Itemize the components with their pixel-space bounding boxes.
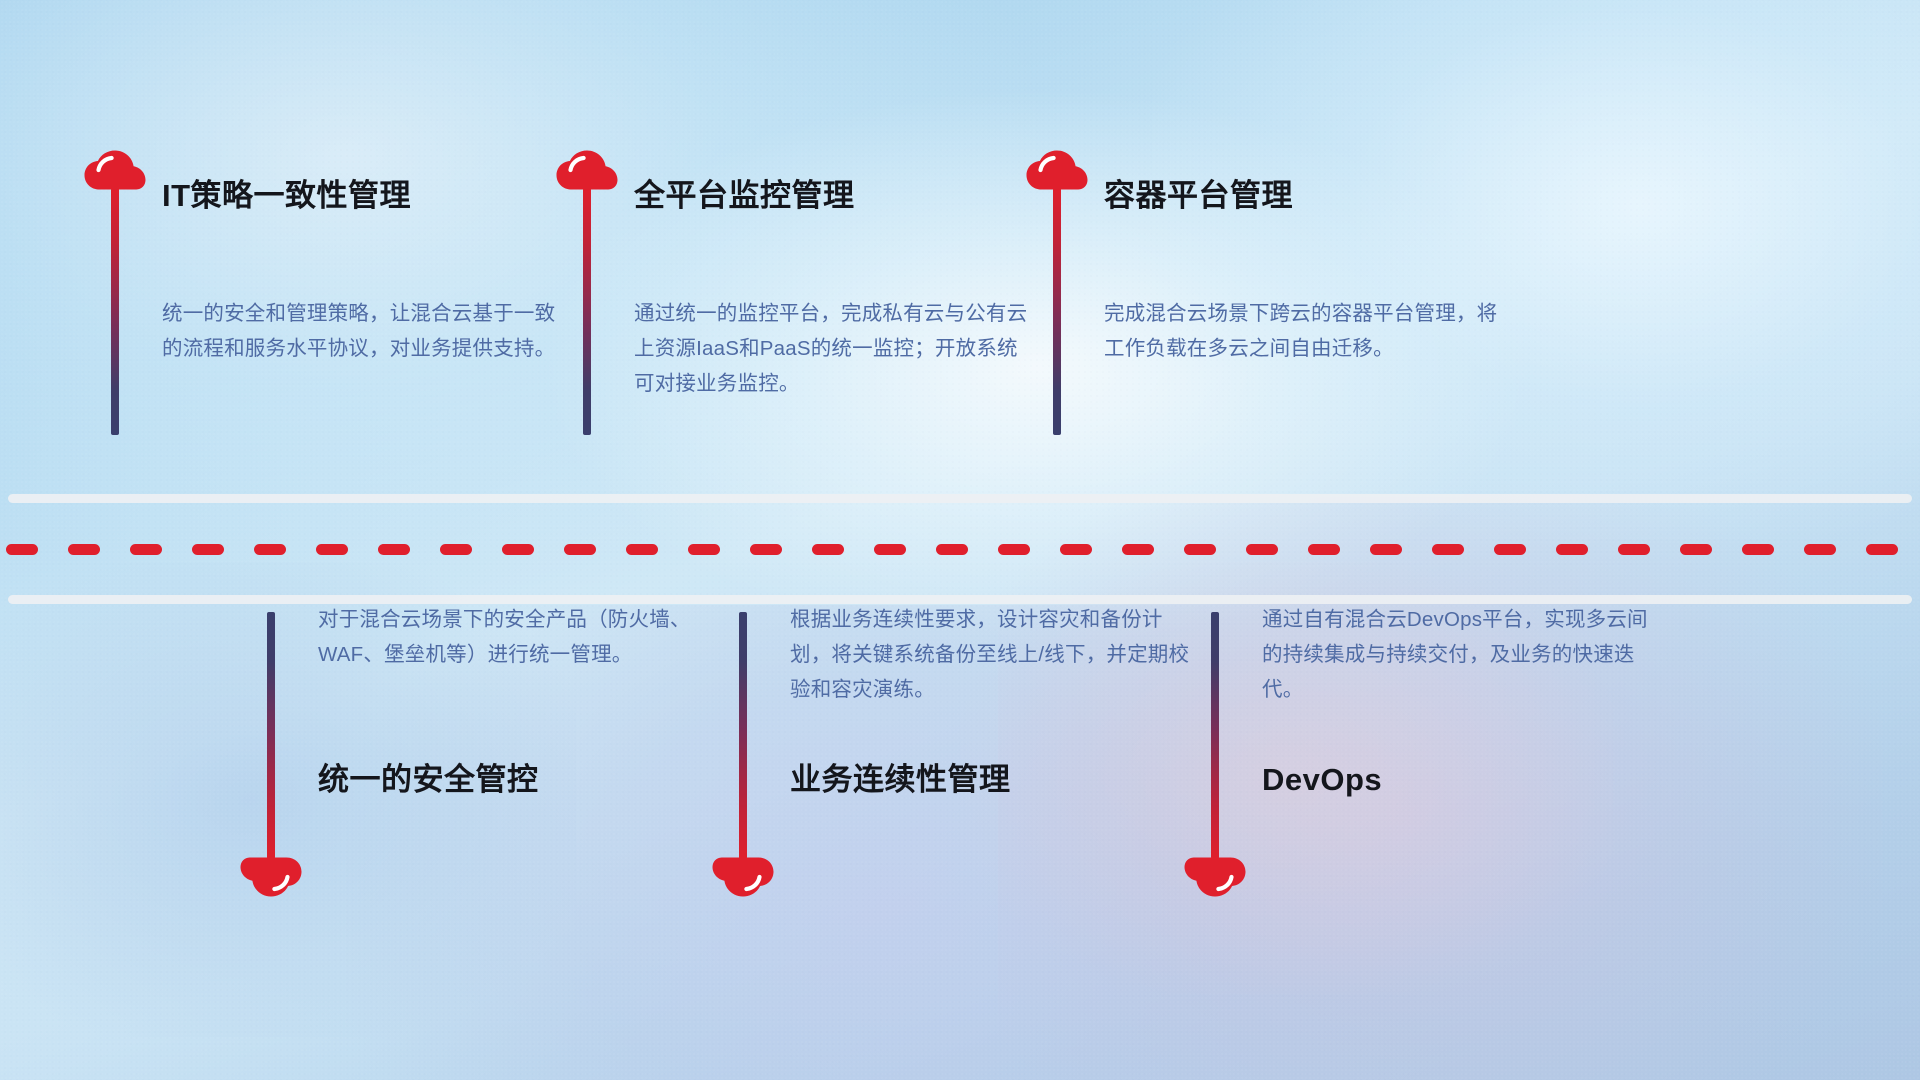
card-body: 统一的安全和管理策略，让混合云基于一致的流程和服务水平协议，对业务提供支持。	[162, 296, 562, 366]
stem-it-policy-consistency	[84, 150, 154, 190]
connector-bar	[111, 188, 119, 435]
card-body: 根据业务连续性要求，设计容灾和备份计划，将关键系统备份至线上/线下，并定期校验和…	[790, 602, 1190, 707]
cloud-icon	[84, 150, 146, 190]
connector-bar	[1211, 612, 1219, 859]
cloud-icon	[1026, 150, 1088, 190]
card-body: 通过统一的监控平台，完成私有云与公有云上资源IaaS和PaaS的统一监控；开放系…	[634, 296, 1034, 401]
cloud-icon	[1184, 857, 1246, 897]
card-body: 对于混合云场景下的安全产品（防火墙、WAF、堡垒机等）进行统一管理。	[318, 602, 718, 672]
cloud-icon	[712, 857, 774, 897]
card-heading: 容器平台管理	[1104, 180, 1293, 211]
stem-full-platform-monitoring	[556, 150, 626, 190]
card-heading: 统一的安全管控	[318, 764, 539, 795]
connector-bar	[583, 188, 591, 435]
connector-bar	[1053, 188, 1061, 435]
infographic-canvas: IT策略一致性管理 统一的安全和管理策略，让混合云基于一致的流程和服务水平协议，…	[0, 0, 1920, 1080]
connector-bar	[739, 612, 747, 859]
background-texture	[0, 0, 1920, 1080]
card-body: 完成混合云场景下跨云的容器平台管理，将工作负载在多云之间自由迁移。	[1104, 296, 1504, 366]
card-heading: 业务连续性管理	[790, 764, 1011, 795]
card-heading: IT策略一致性管理	[162, 180, 411, 211]
card-heading: DevOps	[1262, 764, 1382, 795]
stem-container-platform	[1026, 150, 1096, 190]
cloud-icon	[556, 150, 618, 190]
cloud-icon	[240, 857, 302, 897]
connector-bar	[267, 612, 275, 859]
card-body: 通过自有混合云DevOps平台，实现多云间的持续集成与持续交付，及业务的快速迭代…	[1262, 602, 1662, 707]
card-heading: 全平台监控管理	[634, 180, 855, 211]
